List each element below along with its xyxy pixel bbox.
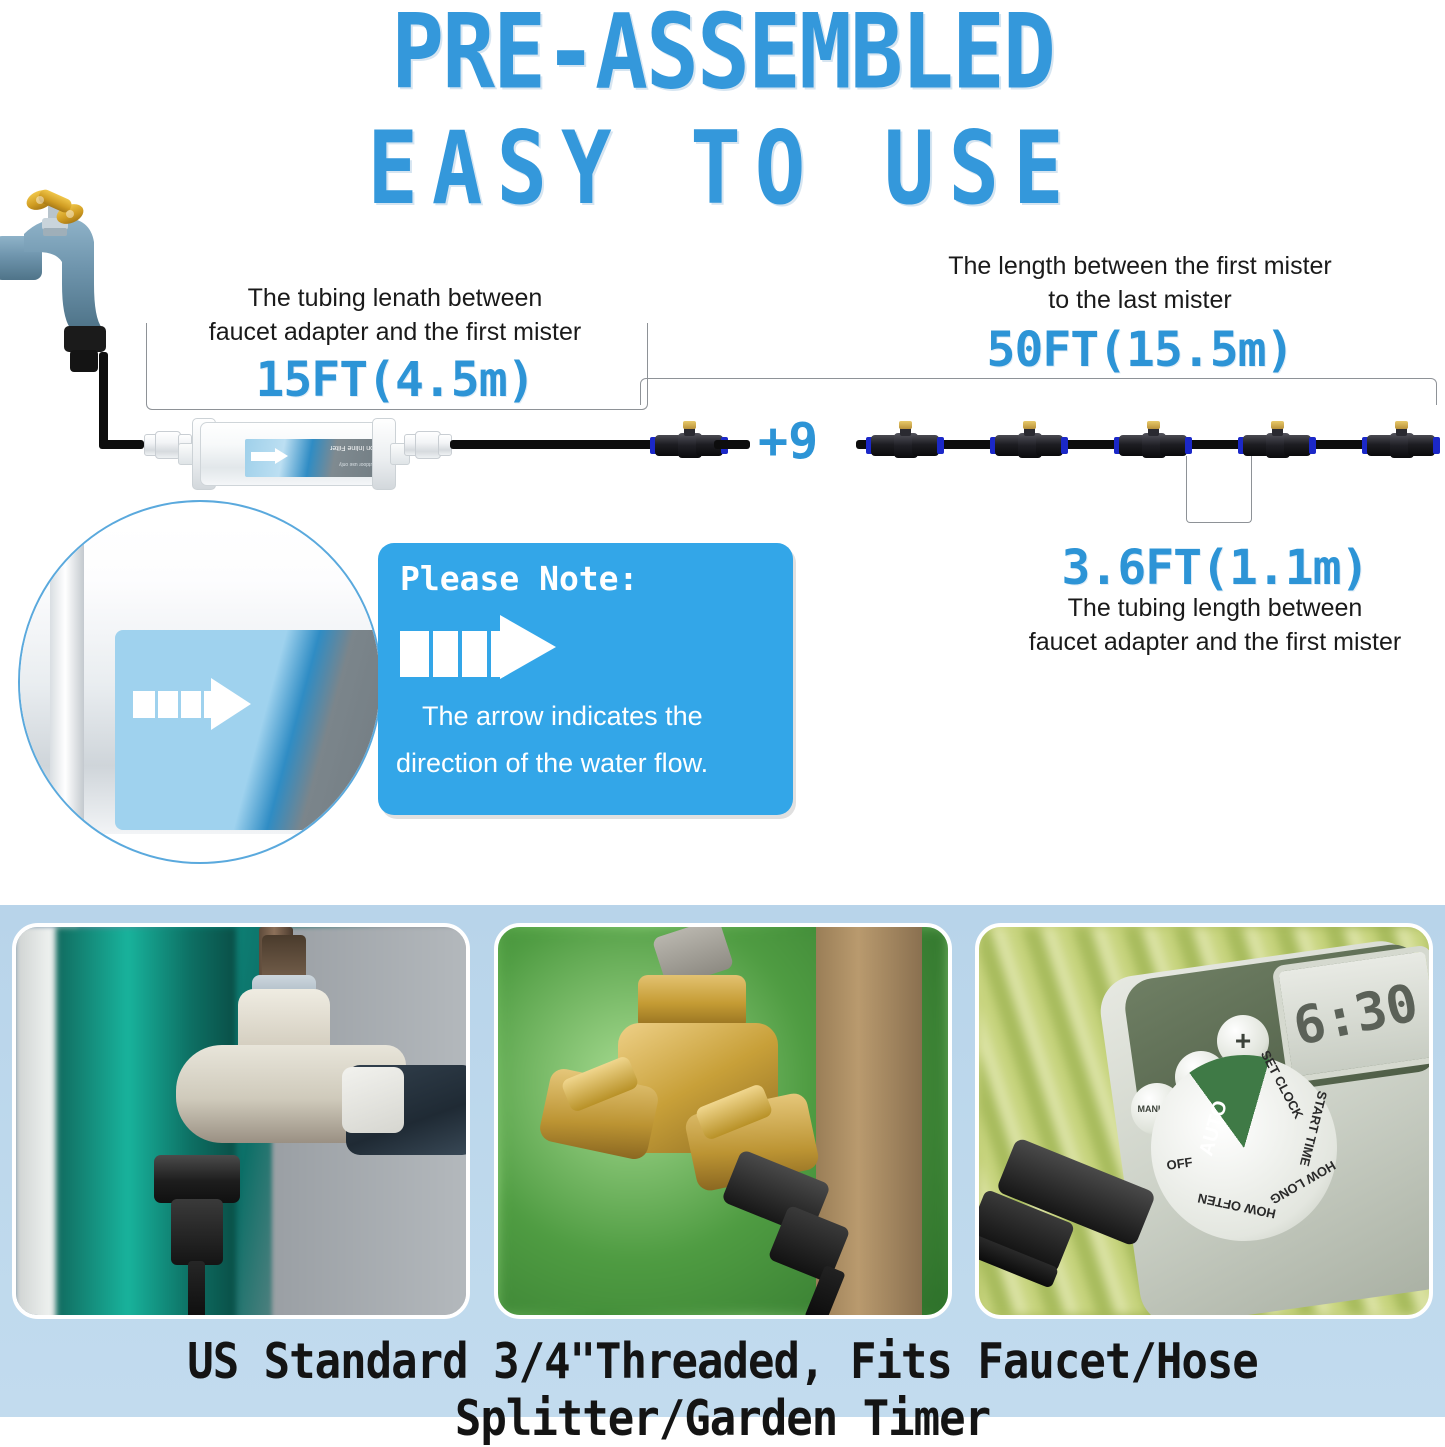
tube-after-mister-1 bbox=[714, 440, 750, 449]
mister-ring-right bbox=[1433, 437, 1440, 454]
mister-brass-tip bbox=[1395, 421, 1408, 429]
extra-misters-label: +9 bbox=[758, 412, 818, 470]
filter-body: Carbon Inline Filter for outdoor use onl… bbox=[200, 422, 390, 486]
photo-band: 6:30 + – MANUAL AUTO SET CLOCK START TIM… bbox=[0, 905, 1445, 1417]
dimension-3_6ft-caption: The tubing length between faucet adapter… bbox=[990, 592, 1440, 659]
please-note-line-2: direction of the water flow. bbox=[396, 748, 708, 779]
please-note-line-1: The arrow indicates the bbox=[422, 701, 703, 732]
mister-nozzle-2 bbox=[866, 425, 944, 465]
water-flow-arrow-icon bbox=[400, 615, 578, 679]
coupler-right bbox=[404, 431, 450, 457]
magnified-filter-rim bbox=[50, 520, 84, 838]
photo1-adapter-neck bbox=[171, 1199, 223, 1265]
dimension-15ft-caption: The tubing lenath between faucet adapter… bbox=[150, 282, 640, 349]
tube-vertical-from-faucet bbox=[99, 352, 108, 448]
dimension-3_6ft-value: 3.6FT(1.1m) bbox=[995, 540, 1435, 596]
photo1-black-tubing bbox=[188, 1261, 205, 1319]
dimension-15ft-value: 15FT(4.5m) bbox=[150, 352, 640, 408]
flow-arrow-icon bbox=[251, 448, 291, 465]
photo1-thread-tape bbox=[342, 1067, 404, 1133]
mister-nozzle-4 bbox=[1114, 425, 1192, 465]
mister-brass-tip bbox=[1023, 421, 1036, 429]
photo3-timer-lcd: 6:30 bbox=[1272, 944, 1433, 1083]
photo-garden-water-timer: 6:30 + – MANUAL AUTO SET CLOCK START TIM… bbox=[975, 923, 1433, 1319]
please-note-callout: Please Note: The arrow indicates the dir… bbox=[378, 543, 793, 815]
mister-nozzle-6 bbox=[1362, 425, 1440, 465]
magnified-filter-label: /cm bbox=[115, 630, 382, 830]
inline-filter-cartridge: Carbon Inline Filter for outdoor use onl… bbox=[178, 418, 410, 488]
please-note-title: Please Note: bbox=[400, 559, 638, 598]
dimension-bracket-50ft bbox=[640, 378, 1437, 405]
photo-brass-hose-splitter bbox=[494, 923, 952, 1319]
mister-barrel-right bbox=[1036, 435, 1063, 456]
mister-nozzle-3 bbox=[990, 425, 1068, 465]
infographic-canvas: PRE-ASSEMBLED EASY TO USE bbox=[0, 0, 1445, 1417]
dimension-3_6ft-caption-line2: faucet adapter and the first mister bbox=[1029, 628, 1401, 656]
mister-barrel-right bbox=[1408, 435, 1435, 456]
mister-ring-right bbox=[1185, 437, 1192, 454]
mister-brass-tip bbox=[683, 421, 696, 429]
headline-line-2: EASY TO USE bbox=[0, 120, 1445, 217]
mister-barrel-right bbox=[912, 435, 939, 456]
photo-outdoor-faucet-with-adapter bbox=[12, 923, 470, 1319]
photo1-black-adapter bbox=[154, 1155, 240, 1203]
page-title: PRE-ASSEMBLED EASY TO USE bbox=[0, 0, 1445, 201]
dimension-15ft-caption-line1: The tubing lenath between bbox=[248, 284, 543, 312]
filter-label: Carbon Inline Filter for outdoor use onl… bbox=[245, 439, 390, 477]
mister-brass-tip bbox=[1271, 421, 1284, 429]
magnified-flow-arrow-icon bbox=[133, 678, 261, 730]
dimension-bracket-3_6ft bbox=[1186, 456, 1252, 523]
footer-caption: US Standard 3/4"Threaded, Fits Faucet/Ho… bbox=[0, 1333, 1445, 1447]
dimension-50ft-caption-line2: to the last mister bbox=[1048, 286, 1231, 314]
headline-line-1: PRE-ASSEMBLED bbox=[0, 0, 1445, 102]
mister-ring-right bbox=[937, 437, 944, 454]
tube-to-first-coupler bbox=[99, 440, 144, 449]
photo-row: 6:30 + – MANUAL AUTO SET CLOCK START TIM… bbox=[0, 905, 1445, 1327]
mister-ring-right bbox=[1309, 437, 1316, 454]
mister-barrel-right bbox=[1160, 435, 1187, 456]
mister-barrel-right bbox=[1284, 435, 1311, 456]
dimension-50ft-caption-line1: The length between the first mister bbox=[948, 252, 1332, 280]
dimension-50ft-value: 50FT(15.5m) bbox=[855, 322, 1425, 378]
dimension-50ft-caption: The length between the first mister to t… bbox=[855, 250, 1425, 317]
mister-brass-tip bbox=[899, 421, 912, 429]
tube-to-first-mister bbox=[450, 440, 660, 449]
mister-brass-tip bbox=[1147, 421, 1160, 429]
dimension-3_6ft-caption-line1: The tubing length between bbox=[1068, 594, 1363, 622]
dimension-15ft-caption-line2: faucet adapter and the first mister bbox=[209, 318, 581, 346]
mister-ring-right bbox=[1061, 437, 1068, 454]
timer-display-value: 6:30 bbox=[1288, 973, 1423, 1058]
magnifier-circle: /cm bbox=[18, 500, 382, 864]
